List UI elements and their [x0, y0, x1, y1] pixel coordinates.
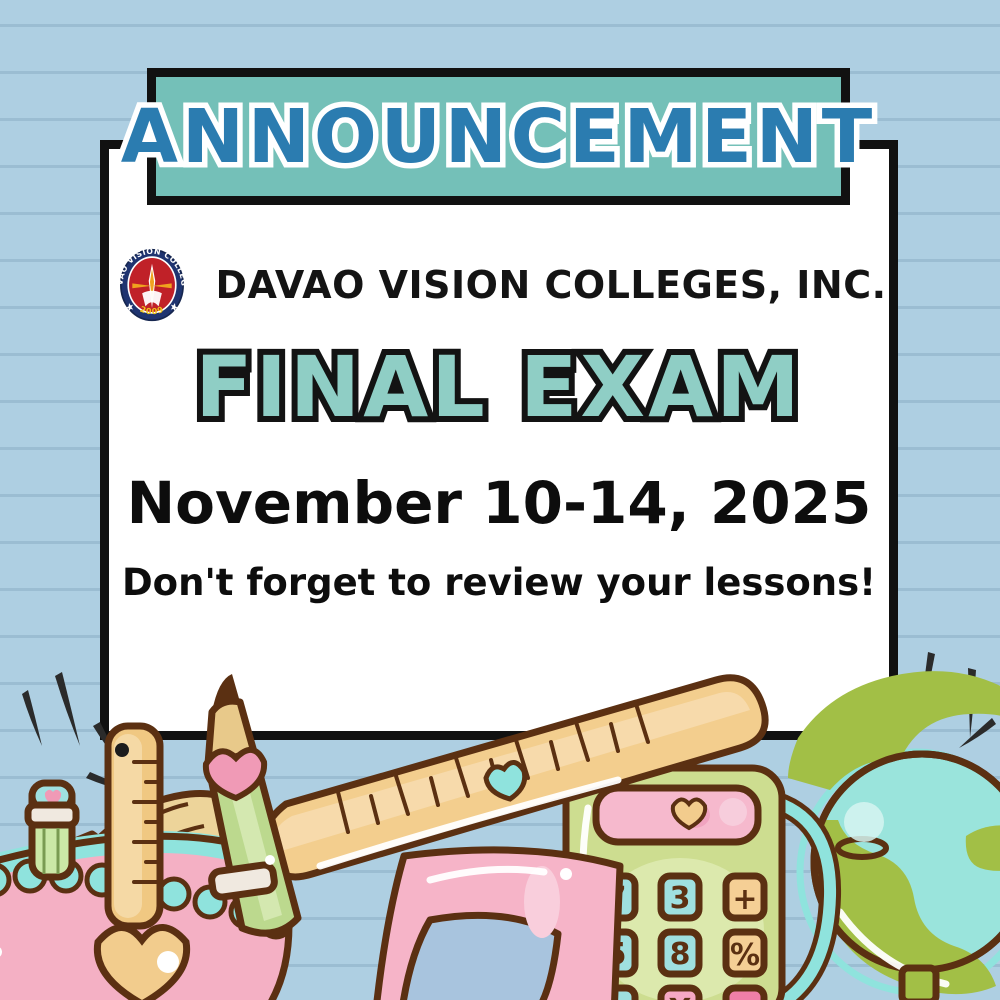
subtitle-label: Don't forget to review your lessons! [109, 561, 889, 604]
school-logo-icon: DAVAO VISION COLLEGES 2009 [111, 244, 193, 326]
headline-container: FINAL EXAM [109, 345, 889, 429]
announcement-card: DAVAO VISION COLLEGES 2009 DAVAO VISION … [100, 140, 898, 740]
headline-final-exam: FINAL EXAM [195, 345, 802, 429]
school-name-label: DAVAO VISION COLLEGES, INC. [215, 263, 886, 307]
banner-label: ANNOUNCEMENT [121, 100, 877, 174]
card-content-area: DAVAO VISION COLLEGES 2009 DAVAO VISION … [109, 149, 889, 731]
school-identity-row: DAVAO VISION COLLEGES 2009 DAVAO VISION … [109, 244, 889, 326]
exam-date-label: November 10-14, 2025 [109, 469, 889, 537]
date-container: November 10-14, 2025 [109, 469, 889, 537]
subtitle-container: Don't forget to review your lessons! [109, 561, 889, 604]
announcement-banner: ANNOUNCEMENT [147, 68, 850, 205]
announcement-poster: DAVAO VISION COLLEGES 2009 DAVAO VISION … [0, 0, 1000, 1000]
